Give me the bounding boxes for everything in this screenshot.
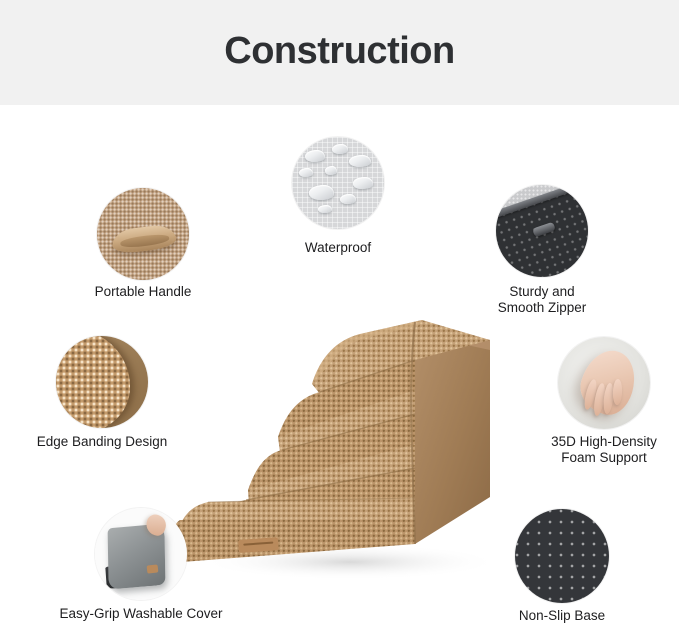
feature-waterproof — [292, 137, 384, 229]
portable-handle-icon — [97, 188, 189, 280]
label-foam-support-line2: Foam Support — [504, 450, 679, 466]
product-brand-tag — [238, 537, 279, 553]
feature-edge-banding-design — [56, 336, 148, 428]
feature-non-slip-base — [515, 509, 609, 603]
label-sturdy-smooth-zipper-line1: Sturdy and — [442, 284, 642, 300]
feature-portable-handle — [97, 188, 189, 280]
zipper-icon — [496, 185, 588, 277]
label-waterproof: Waterproof — [238, 240, 438, 256]
label-edge-banding-design: Edge Banding Design — [2, 434, 202, 450]
label-portable-handle: Portable Handle — [43, 284, 243, 300]
feature-easy-grip-washable-cover — [95, 508, 187, 600]
label-easy-grip-washable-cover: Easy-Grip Washable Cover — [41, 606, 241, 622]
label-sturdy-smooth-zipper-line2: Smooth Zipper — [442, 300, 642, 316]
waterproof-icon — [292, 137, 384, 229]
page-title: Construction — [0, 30, 679, 73]
label-non-slip-base: Non-Slip Base — [462, 608, 662, 624]
infographic-canvas: Construction — [0, 0, 679, 627]
feature-sturdy-smooth-zipper — [496, 185, 588, 277]
label-foam-support-line1: 35D High-Density — [504, 434, 679, 450]
non-slip-base-icon — [515, 509, 609, 603]
foam-support-icon — [558, 337, 650, 429]
feature-foam-support — [558, 337, 650, 429]
edge-banding-icon — [56, 336, 148, 428]
washable-cover-icon — [95, 508, 187, 600]
